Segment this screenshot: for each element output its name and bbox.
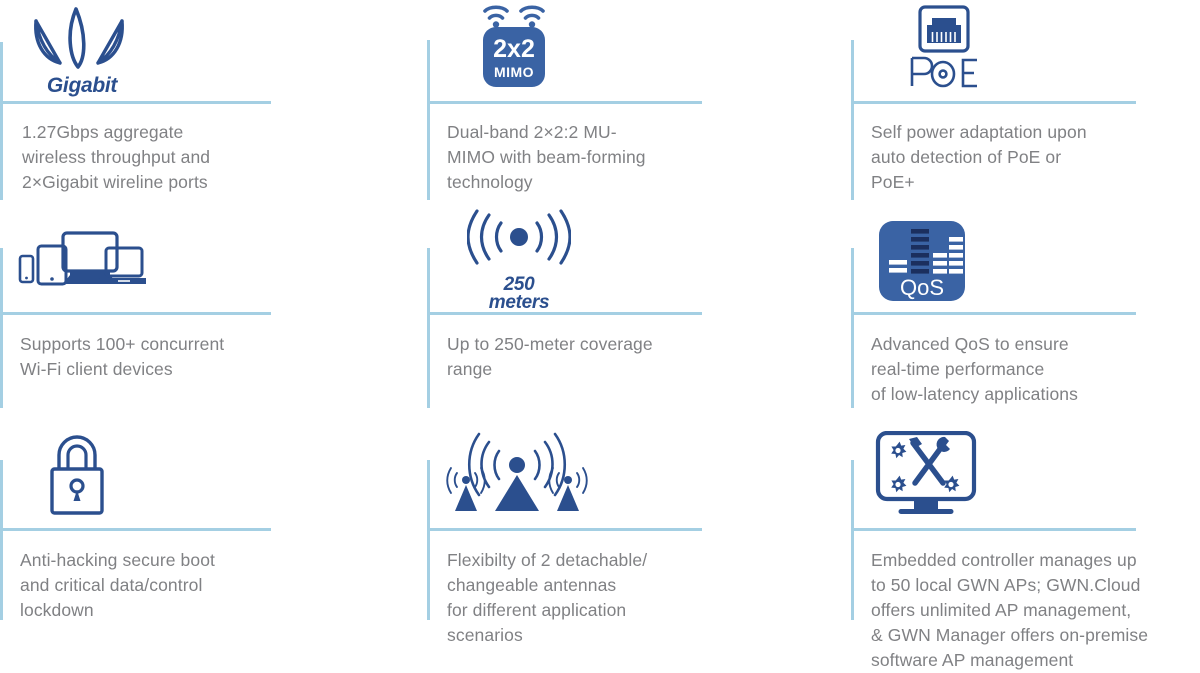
feature-caption: Anti-hacking secure boot and critical da… (20, 548, 290, 623)
gigabit-wings-icon: Gigabit (26, 7, 138, 98)
padlock-icon (44, 431, 110, 522)
feature-card-qos: QoS Advanced QoS to ensure real-time per… (851, 210, 1200, 420)
divider-horizontal (0, 528, 271, 531)
monitor-tools-management-icon (875, 431, 977, 522)
divider-horizontal (427, 312, 702, 315)
range-value: 250 (467, 276, 571, 294)
feature-card-poe: Self power adaptation upon auto detectio… (851, 0, 1200, 210)
feature-card-gigabit: Gigabit 1.27Gbps aggregate wireless thro… (0, 0, 420, 210)
qos-equalizer-icon: QoS (879, 221, 965, 306)
signal-range-icon: 250 meters (467, 209, 571, 312)
feature-caption: Self power adaptation upon auto detectio… (871, 120, 1191, 195)
feature-caption: Advanced QoS to ensure real-time perform… (871, 332, 1191, 407)
divider-horizontal (427, 528, 702, 531)
divider-horizontal (0, 312, 271, 315)
feature-caption: Dual-band 2×2:2 MU- MIMO with beam-formi… (447, 120, 727, 195)
divider-horizontal (851, 101, 1136, 104)
poe-rj45-icon (899, 4, 989, 97)
feature-card-mimo: 2x2 MIMO Dual-band 2×2:2 MU- MIMO with b… (427, 0, 847, 210)
antenna-towers-icon (445, 427, 589, 524)
feature-card-controller: Embedded controller manages up to 50 loc… (851, 420, 1200, 658)
svg-text:2x2: 2x2 (493, 35, 535, 63)
feature-grid: Gigabit 1.27Gbps aggregate wireless thro… (0, 0, 1200, 658)
feature-caption: 1.27Gbps aggregate wireless throughput a… (22, 120, 292, 195)
range-wordmark: 250 meters (467, 276, 571, 312)
gigabit-wordmark: Gigabit (26, 74, 138, 98)
divider-horizontal (851, 528, 1136, 531)
feature-card-clients: Supports 100+ concurrent Wi-Fi client de… (0, 210, 420, 420)
two-by-two-mimo-icon: 2x2 MIMO (473, 0, 555, 98)
feature-card-coverage: 250 meters Up to 250-meter coverage rang… (427, 210, 847, 420)
feature-card-antennas: Flexibilty of 2 detachable/ changeable a… (427, 420, 847, 658)
divider-horizontal (851, 312, 1136, 315)
range-unit: meters (467, 294, 571, 312)
svg-text:QoS: QoS (900, 275, 944, 300)
feature-caption: Supports 100+ concurrent Wi-Fi client de… (20, 332, 290, 382)
svg-text:MIMO: MIMO (494, 64, 534, 80)
feature-caption: Up to 250-meter coverage range (447, 332, 727, 382)
divider-horizontal (427, 101, 702, 104)
multi-device-clients-icon (18, 230, 146, 299)
feature-caption: Embedded controller manages up to 50 loc… (871, 548, 1200, 673)
divider-horizontal (0, 101, 271, 104)
feature-caption: Flexibilty of 2 detachable/ changeable a… (447, 548, 737, 648)
feature-card-security: Anti-hacking secure boot and critical da… (0, 420, 420, 658)
